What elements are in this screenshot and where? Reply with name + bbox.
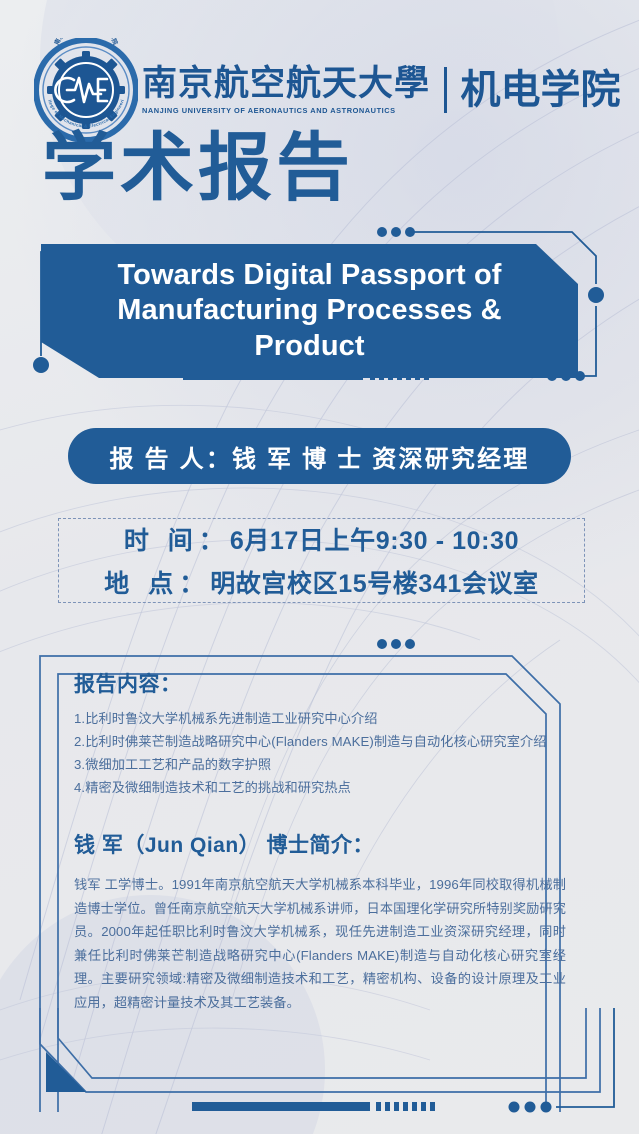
speaker-banner: 报 告 人：钱 军 博 士 资深研究经理 (68, 428, 571, 484)
list-item: 2.比利时佛莱芒制造战略研究中心(Flanders MAKE)制造与自动化核心研… (74, 730, 566, 753)
bottom-decoration (0, 1008, 639, 1134)
topics-list: 1.比利时鲁汶大学机械系先进制造工业研究中心介绍 2.比利时佛莱芒制造战略研究中… (74, 707, 566, 799)
event-place-row: 地 点：明故宫校区15号楼341会议室 (104, 564, 538, 600)
event-details-box: 时 间：6月17日上午9:30 - 10:30 地 点：明故宫校区15号楼341… (58, 518, 585, 603)
talk-title: Towards Digital Passport of Manufacturin… (41, 258, 578, 364)
logo-wordmark: 南京航空航天大學 NANJING UNIVERSITY OF AERONAUTI… (142, 66, 621, 115)
university-name-en: NANJING UNIVERSITY OF AERONAUTICS AND AS… (142, 106, 396, 115)
logo-divider (444, 67, 447, 113)
event-time-value: 6月17日上午9:30 - 10:30 (230, 527, 519, 555)
university-name-cn: 南京航空航天大學 (142, 66, 430, 101)
list-item: 3.微细加工工艺和产品的数字护照 (74, 753, 566, 776)
page-title: 学术报告 (42, 130, 354, 207)
event-place-value: 明故宫校区15号楼341会议室 (210, 570, 539, 598)
talk-title-panel: Towards Digital Passport of Manufacturin… (41, 244, 578, 378)
event-time-row: 时 间：6月17日上午9:30 - 10:30 (124, 521, 519, 557)
content-body: 报告内容： 1.比利时鲁汶大学机械系先进制造工业研究中心介绍 2.比利时佛莱芒制… (74, 668, 566, 1014)
event-time-label: 时 间： (124, 527, 230, 555)
speaker-name-line: 报 告 人：钱 军 博 士 资深研究经理 (109, 439, 529, 474)
event-place-label: 地 点： (104, 570, 210, 598)
bio-paragraph: 钱军 工学博士。1991年南京航空航天大学机械系本科毕业，1996年同校取得机械… (74, 873, 566, 1014)
school-name-cn: 机电学院 (461, 70, 621, 110)
list-item: 1.比利时鲁汶大学机械系先进制造工业研究中心介绍 (74, 707, 566, 730)
poster-canvas: 南京航空航天大学机电学院 College of Mechanical & Ele… (0, 0, 639, 1134)
list-item: 4.精密及微细制造技术和工艺的挑战和研究热点 (74, 776, 566, 799)
bio-heading: 钱 军（Jun Qian） 博士简介： (74, 829, 566, 859)
university-name-block: 南京航空航天大學 NANJING UNIVERSITY OF AERONAUTI… (142, 66, 430, 115)
topics-heading: 报告内容： (74, 668, 566, 698)
